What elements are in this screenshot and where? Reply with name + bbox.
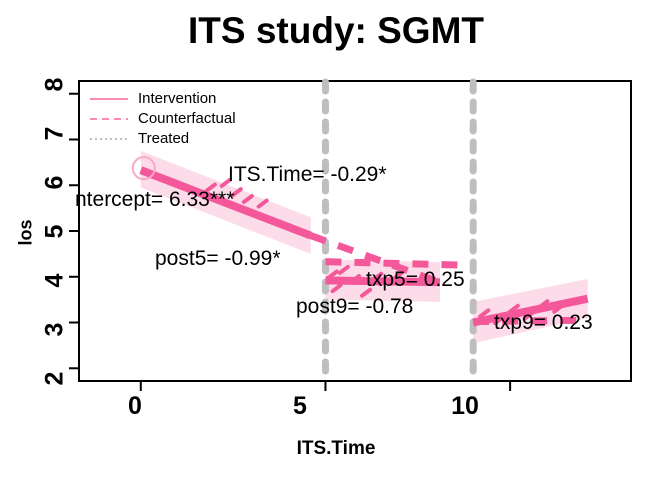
y-tick-2: 2: [41, 364, 70, 394]
legend-label-counterfactual: Counterfactual: [138, 110, 236, 127]
x-tick-10: 10: [435, 392, 495, 421]
legend-key-dotted-line-icon: [88, 132, 130, 144]
x-axis-title: ITS.Time: [0, 438, 672, 460]
legend-item-counterfactual: Counterfactual: [88, 108, 236, 128]
annotation-post5: post5= -0.99*: [155, 247, 281, 271]
annotation-txp9: txp9= 0.23: [494, 311, 593, 335]
y-tick-3: 3: [41, 315, 70, 345]
legend-key-dashed-line-icon: [88, 112, 130, 124]
y-axis-title: los: [16, 203, 37, 263]
y-tick-5: 5: [41, 217, 70, 247]
legend-label-treated: Treated: [138, 130, 189, 147]
annotation-txp5: txp5= 0.25: [366, 268, 465, 292]
y-tick-6: 6: [41, 168, 70, 198]
annotation-its-time: ITS.Time= -0.29*: [228, 163, 387, 187]
y-tick-4: 4: [41, 266, 70, 296]
y-tick-7: 7: [41, 119, 70, 149]
annotation-intercept: ntercept= 6.33***: [75, 188, 234, 212]
plot-graphics: [0, 0, 672, 480]
chart-legend: Intervention Counterfactual Treated: [88, 88, 236, 148]
x-tick-0: 0: [105, 392, 165, 421]
legend-label-intervention: Intervention: [138, 90, 216, 107]
legend-item-intervention: Intervention: [88, 88, 236, 108]
chart-canvas: ITS study: SGMT 8 7 6 5 4 3 2 los 0 5 10…: [0, 0, 672, 480]
y-tick-8: 8: [41, 70, 70, 100]
x-tick-5: 5: [270, 392, 330, 421]
annotation-post9: post9= -0.78: [296, 295, 413, 319]
legend-item-treated: Treated: [88, 128, 236, 148]
legend-key-solid-line-icon: [88, 92, 130, 104]
